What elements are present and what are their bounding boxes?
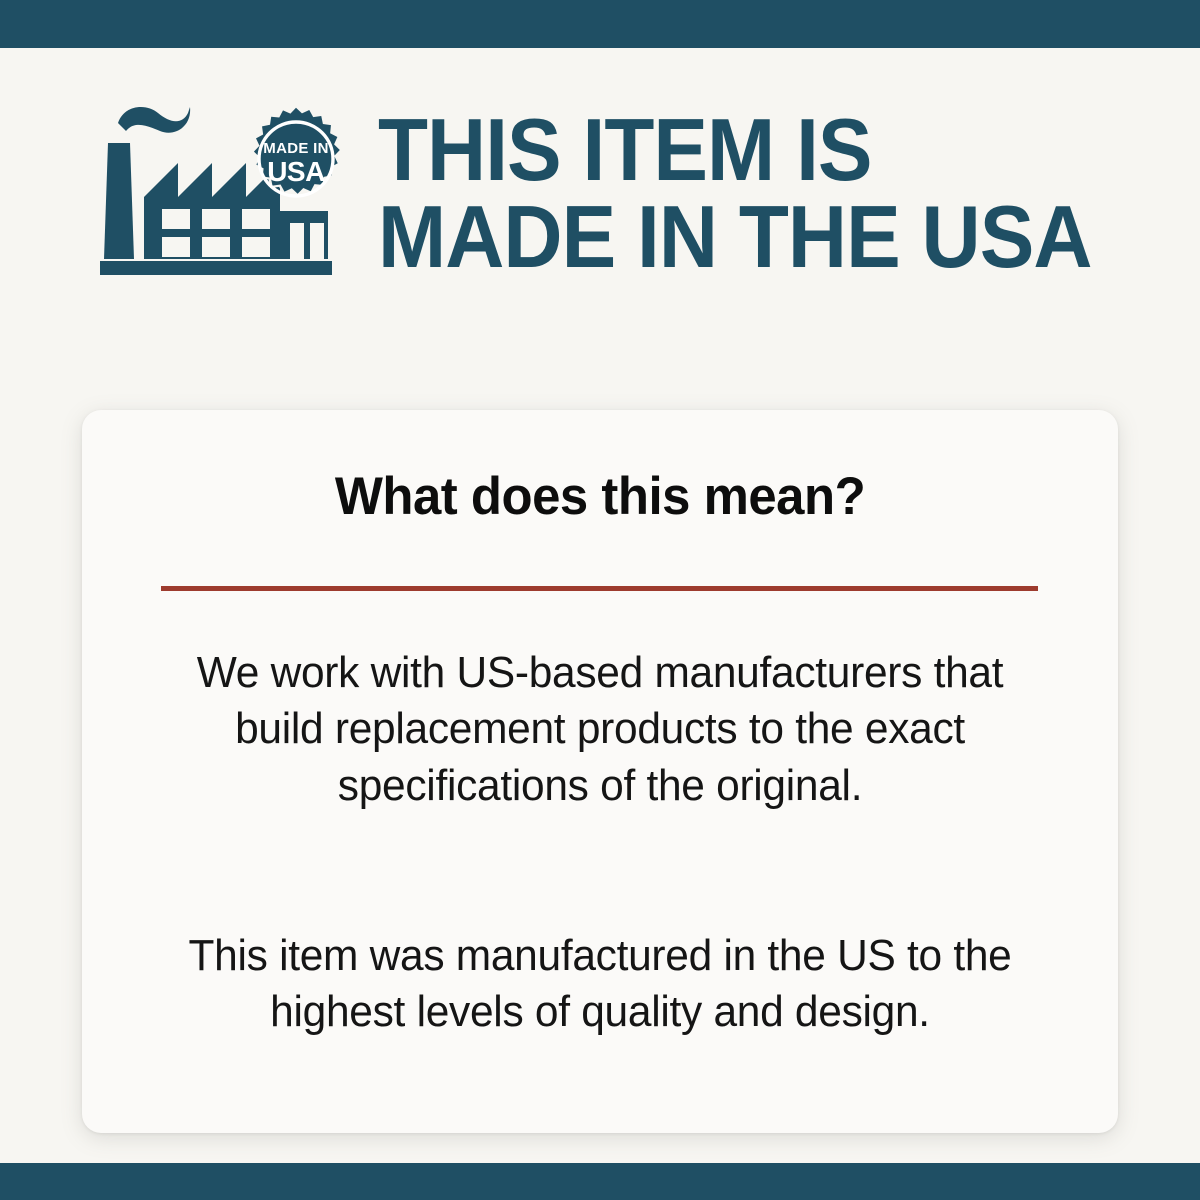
top-accent-bar (0, 0, 1200, 48)
page-canvas: MADE IN USA THIS ITEM IS MADE IN THE USA… (0, 48, 1200, 1163)
made-in-usa-seal-icon: MADE IN USA (240, 103, 352, 215)
bottom-accent-bar (0, 1163, 1200, 1200)
card-heading: What does this mean? (103, 466, 1098, 527)
page-title-line-1: THIS ITEM IS (378, 100, 872, 199)
heading-divider (161, 586, 1038, 591)
seal-line2: USA (267, 156, 325, 187)
card-paragraph-2: This item was manufactured in the US to … (158, 928, 1042, 1041)
seal-line1: MADE IN (263, 140, 328, 157)
card-paragraph-1: We work with US-based manufacturers that… (158, 645, 1042, 814)
page-title-line-2: MADE IN THE USA (378, 193, 1105, 280)
page-title: THIS ITEM IS MADE IN THE USA (378, 106, 1105, 280)
logo: MADE IN USA (100, 101, 350, 286)
info-card: What does this mean? We work with US-bas… (82, 410, 1118, 1133)
header: MADE IN USA THIS ITEM IS MADE IN THE USA (100, 98, 1160, 288)
